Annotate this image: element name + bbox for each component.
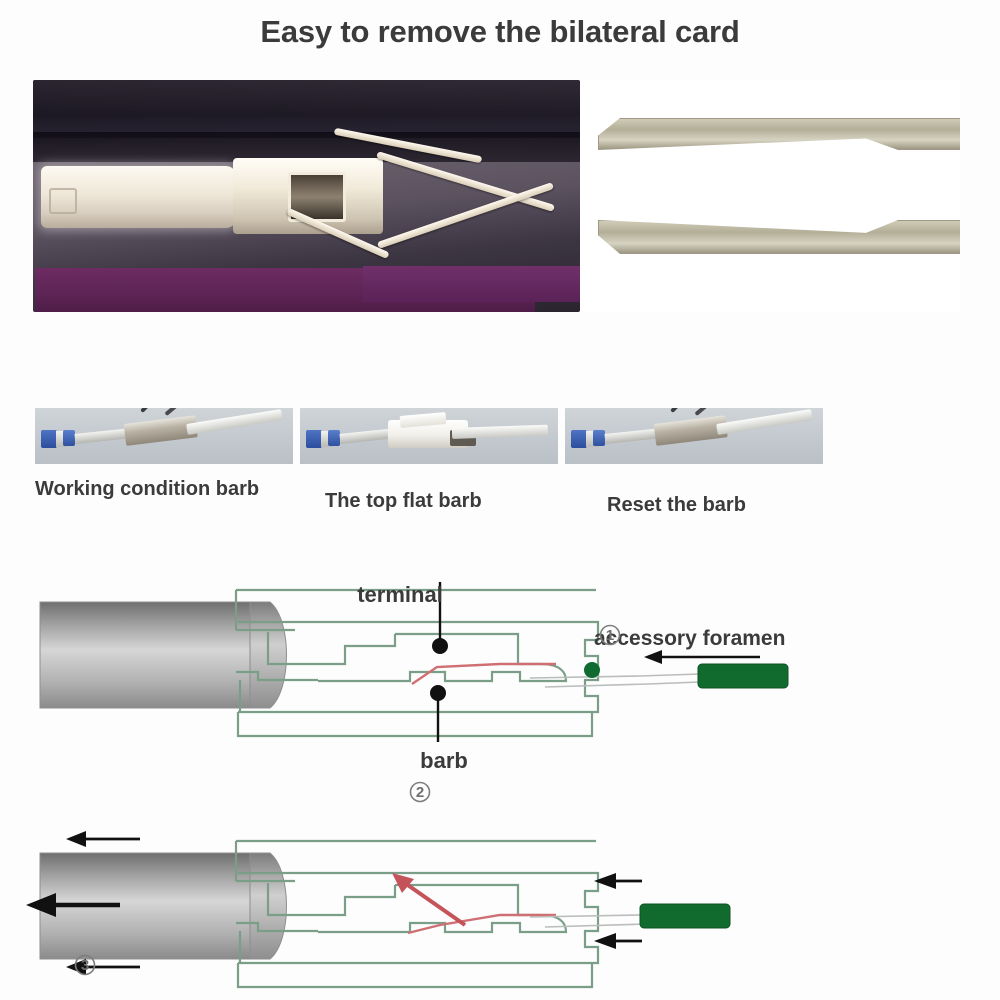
purple-base-2 <box>363 266 580 302</box>
photo-shadow-top <box>33 80 580 138</box>
thumbnail-working-condition-barb <box>35 408 293 464</box>
pull-arrow-top <box>66 831 140 847</box>
thumbnail-top-flat-barb <box>300 408 558 464</box>
barb-label: barb <box>420 748 468 773</box>
push-arrow-top <box>594 873 642 889</box>
barb-dot <box>430 685 446 701</box>
accessory-foramen-text: accessory foramen <box>594 627 785 650</box>
accessory-foramen-arrow <box>644 650 760 664</box>
release-tool-prongs-photo <box>598 118 960 270</box>
pin-blue-boot-2 <box>593 430 605 446</box>
pin-barrel <box>339 429 392 444</box>
pin-tail <box>452 425 548 439</box>
page-title: Easy to remove the bilateral card <box>0 14 1000 50</box>
tool-prong-lower <box>598 220 962 254</box>
thumbnail-caption-2: The top flat barb <box>325 488 565 514</box>
hero-photo <box>33 80 960 312</box>
pin-blue-boot <box>41 430 57 448</box>
step-number-2-text: 2 <box>416 784 424 801</box>
pin-barb <box>670 408 694 413</box>
thumbnail-caption-3: Reset the barb <box>607 492 837 518</box>
tool-prong-upper <box>598 118 962 150</box>
thumbnail-caption-1: Working condition barb <box>35 476 285 502</box>
pin-tail <box>716 409 813 435</box>
pin-barrel <box>74 429 127 444</box>
pin-barb <box>140 408 164 413</box>
diagram-insertion-step: terminal barb accessory foramen accessor… <box>0 560 1000 810</box>
connector-body <box>41 166 236 228</box>
pin-blue-boot <box>306 430 322 448</box>
step-number-3-text: 3 <box>81 957 89 974</box>
pin-blue-boot-2 <box>63 430 75 446</box>
thumbnail-reset-the-barb <box>565 408 823 464</box>
accessory-foramen-callout: accessory foramen <box>594 627 785 664</box>
accessory-foramen-dot <box>584 662 600 678</box>
step-number-2: 2 <box>411 783 430 802</box>
cable-graphic <box>40 602 287 708</box>
pin-blue-boot-2 <box>328 430 340 446</box>
pin-blue-boot <box>571 430 587 448</box>
pin-barb-tip <box>694 408 713 416</box>
terminal-dot <box>432 638 448 654</box>
pin-barb-tip <box>164 408 183 416</box>
release-tool-handle <box>640 904 730 928</box>
wire-strand <box>377 182 554 249</box>
product-infographic: Easy to remove the bilateral card <box>0 0 1000 1000</box>
step-number-1-text: 1 <box>606 627 614 644</box>
connector-photo <box>33 80 580 312</box>
push-arrows <box>594 873 642 949</box>
pull-arrow-bottom <box>66 959 140 975</box>
barb-release-arrow <box>392 873 465 925</box>
pin-barrel <box>604 429 657 444</box>
diagram-extraction-step: 3 <box>0 815 1000 1000</box>
pin-tail <box>186 409 283 435</box>
push-arrow-bottom <box>594 933 642 949</box>
release-tool-handle <box>698 664 788 688</box>
terminal-label: terminal <box>357 582 443 607</box>
